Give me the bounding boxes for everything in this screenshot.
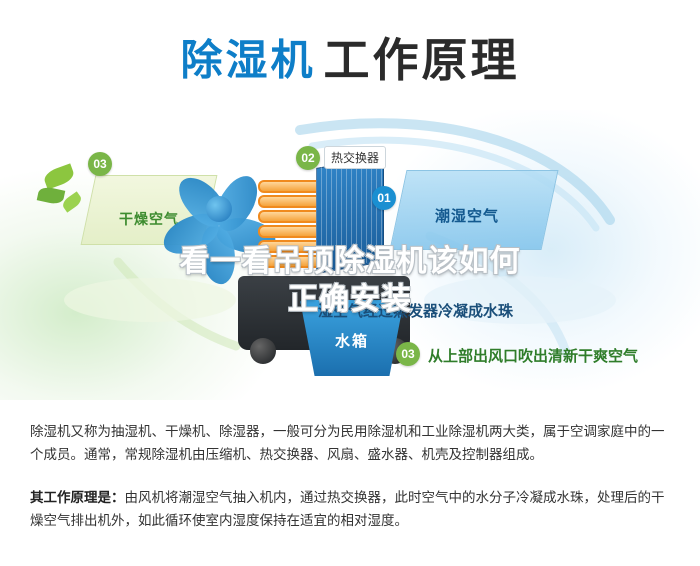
paragraph-principle-rest: 由风机将潮湿空气抽入机内，通过热交换器，此时空气中的水分子冷凝成水珠，处理后的干… [30,490,665,528]
badge-01: 01 [372,186,396,210]
badge-02: 02 [296,146,320,170]
title-secondary: 工作原理 [324,34,520,86]
dehumidifier-principle-illustration: 除湿机工作原理 干燥空气 03 02 热交换器 潮湿空气 [0,0,700,400]
illustration-title: 除湿机工作原理 [0,24,700,90]
paragraph-definition: 除湿机又称为抽湿机、干燥机、除湿器，一般可分为民用除湿机和工业除湿机两大类，属于… [30,420,670,466]
article-text-block: 除湿机又称为抽湿机、干燥机、除湿器，一般可分为民用除湿机和工业除湿机两大类，属于… [0,400,700,566]
water-tank-label: 水箱 [300,330,404,351]
caption-02-text: 湿空气经过蒸发器冷凝成水珠 [318,300,513,321]
machine-wheel [250,338,276,364]
badge-03-bottom: 03 [396,342,420,366]
leaf-icon [37,185,66,205]
fan-hub [206,196,232,222]
title-primary: 除湿机 [180,37,315,84]
heat-exchanger-chip-label: 热交换器 [324,146,386,169]
page-root: 除湿机工作原理 干燥空气 03 02 热交换器 潮湿空气 [0,0,700,566]
leaf-icon [42,163,76,189]
paragraph-principle: 其工作原理是：由风机将潮湿空气抽入机内，通过热交换器，此时空气中的水分子冷凝成水… [30,486,670,532]
heat-exchanger-fins [316,156,382,272]
paragraph-principle-lead: 其工作原理是： [30,490,125,505]
caption-03-text: 从上部出风口吹出清新干爽空气 [428,345,638,366]
badge-03-left: 03 [88,152,112,176]
moist-air-label: 潮湿空气 [392,205,542,226]
